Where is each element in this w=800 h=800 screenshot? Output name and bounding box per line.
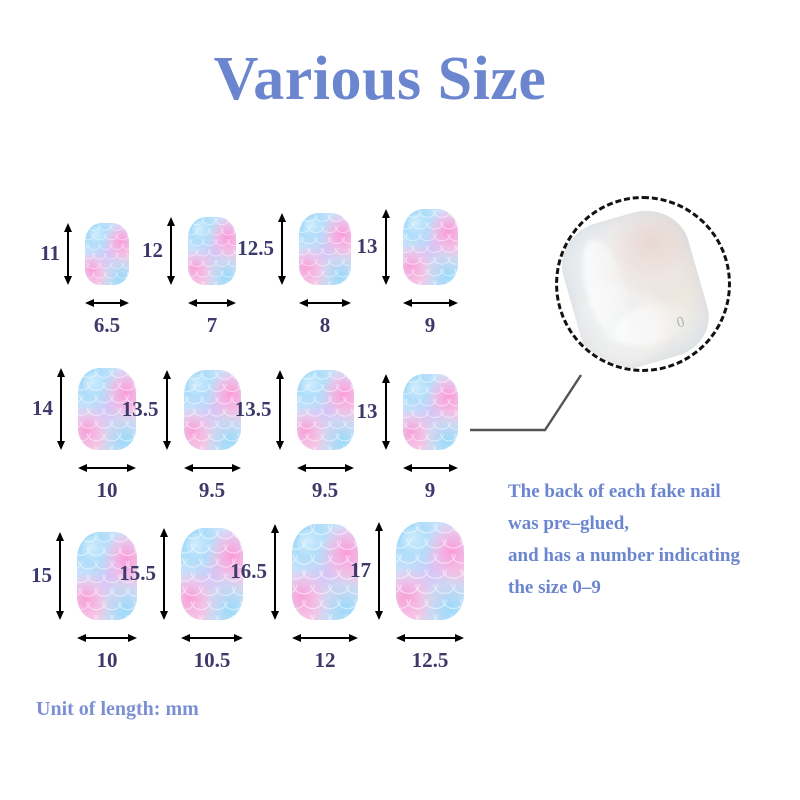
nail-gloss-icon bbox=[407, 213, 429, 236]
height-dimension-arrow bbox=[379, 374, 393, 450]
height-dimension-arrow bbox=[53, 532, 67, 620]
width-label: 10 bbox=[67, 480, 147, 501]
nail-gloss-icon bbox=[301, 374, 324, 398]
nail-gloss-icon bbox=[303, 217, 324, 239]
width-dimension-arrow bbox=[299, 296, 351, 310]
height-dimension-arrow bbox=[379, 209, 393, 285]
description-line-3: and has a number indicating bbox=[508, 540, 798, 572]
height-dimension-arrow bbox=[157, 528, 171, 620]
nail-gloss-icon bbox=[192, 220, 211, 240]
nail-back-callout: 0 bbox=[555, 196, 731, 372]
width-dimension-arrow bbox=[85, 296, 129, 310]
height-label: 13.5 bbox=[218, 399, 272, 420]
width-dimension-arrow bbox=[403, 296, 458, 310]
nail-gloss-icon bbox=[89, 226, 107, 245]
width-dimension-arrow bbox=[396, 631, 464, 645]
height-dimension-arrow bbox=[275, 213, 289, 285]
unit-note: Unit of length: mm bbox=[36, 698, 199, 721]
width-label: 7 bbox=[172, 315, 252, 336]
width-label: 12 bbox=[285, 650, 365, 671]
height-label: 13 bbox=[324, 401, 378, 422]
height-label: 12.5 bbox=[220, 238, 274, 259]
description-line-2: was pre–glued, bbox=[508, 508, 798, 540]
width-label: 12.5 bbox=[390, 650, 470, 671]
height-dimension-arrow bbox=[268, 524, 282, 620]
nail-gloss-icon bbox=[83, 372, 106, 397]
width-label: 9.5 bbox=[285, 480, 365, 501]
nail-gloss-icon bbox=[186, 533, 211, 561]
width-label: 9 bbox=[390, 480, 470, 501]
height-label: 15 bbox=[0, 565, 52, 586]
height-dimension-arrow bbox=[372, 522, 386, 620]
width-label: 9 bbox=[390, 315, 470, 336]
width-label: 9.5 bbox=[172, 480, 252, 501]
nail-swatch bbox=[403, 374, 458, 450]
description-line-4: the size 0–9 bbox=[508, 572, 798, 604]
height-label: 12 bbox=[109, 240, 163, 261]
width-dimension-arrow bbox=[77, 631, 137, 645]
nail-swatch bbox=[396, 522, 464, 620]
width-dimension-arrow bbox=[181, 631, 243, 645]
infographic-page: Various Size 116.512712.58139141013.59.5… bbox=[0, 0, 800, 800]
height-dimension-arrow bbox=[164, 217, 178, 285]
width-dimension-arrow bbox=[184, 461, 241, 475]
width-dimension-arrow bbox=[297, 461, 354, 475]
width-dimension-arrow bbox=[403, 461, 458, 475]
description-line-1: The back of each fake nail bbox=[508, 476, 798, 508]
nail-swatch bbox=[403, 209, 458, 285]
height-label: 14 bbox=[0, 398, 53, 419]
page-title: Various Size bbox=[0, 48, 760, 110]
nail-gloss-icon bbox=[188, 374, 211, 398]
height-label: 13.5 bbox=[105, 399, 159, 420]
height-label: 16.5 bbox=[213, 561, 267, 582]
height-label: 11 bbox=[6, 243, 60, 264]
height-dimension-arrow bbox=[54, 368, 68, 450]
width-label: 10.5 bbox=[172, 650, 252, 671]
height-dimension-arrow bbox=[61, 223, 75, 285]
width-dimension-arrow bbox=[292, 631, 358, 645]
nail-back-image: 0 bbox=[555, 200, 718, 372]
height-dimension-arrow bbox=[273, 370, 287, 450]
height-label: 15.5 bbox=[102, 563, 156, 584]
width-label: 8 bbox=[285, 315, 365, 336]
width-label: 6.5 bbox=[67, 315, 147, 336]
width-dimension-arrow bbox=[188, 296, 236, 310]
nail-gloss-icon bbox=[82, 536, 106, 562]
width-label: 10 bbox=[67, 650, 147, 671]
nail-gloss-icon bbox=[297, 529, 323, 558]
description-text: The back of each fake nail was pre–glued… bbox=[508, 476, 798, 604]
width-dimension-arrow bbox=[78, 461, 136, 475]
height-dimension-arrow bbox=[160, 370, 174, 450]
height-label: 17 bbox=[317, 560, 371, 581]
nail-gloss-icon bbox=[401, 527, 428, 556]
nail-gloss-icon bbox=[407, 378, 429, 401]
height-label: 13 bbox=[324, 236, 378, 257]
